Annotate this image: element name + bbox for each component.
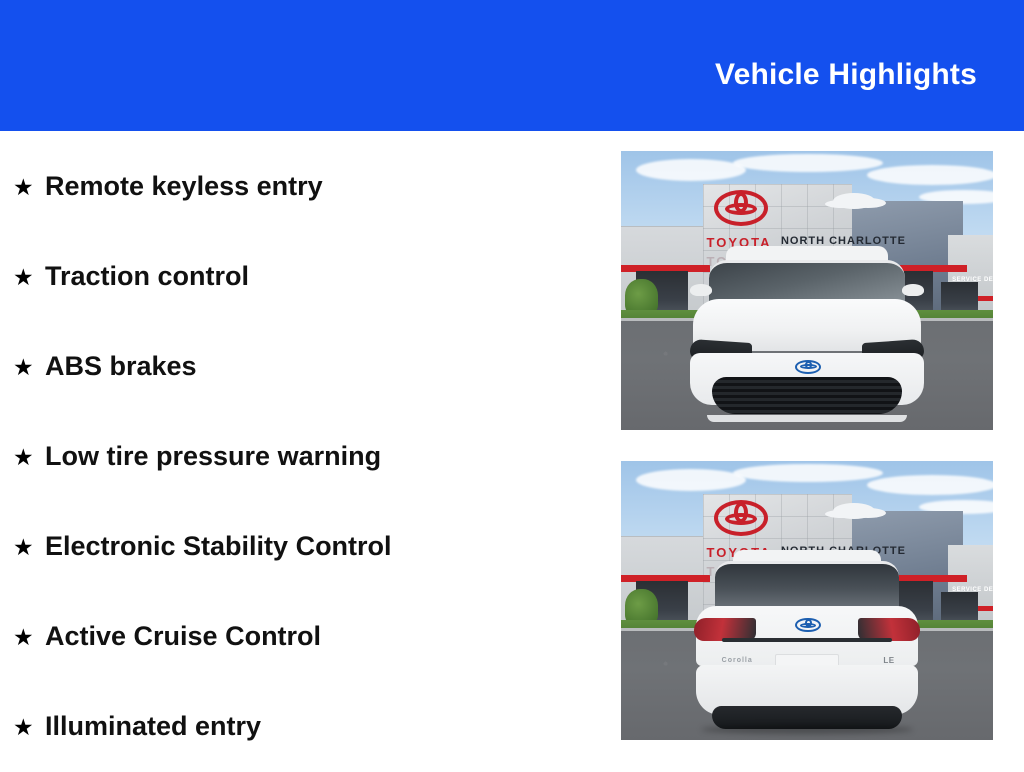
feature-label: Traction control [45, 262, 249, 292]
star-icon: ★ [13, 536, 45, 559]
showroom-bay [941, 592, 978, 623]
car-front-lip [707, 415, 907, 422]
cloud [733, 154, 883, 172]
vehicle-front-body [688, 246, 926, 419]
sign-cloud-icon [833, 193, 875, 209]
star-icon: ★ [13, 716, 45, 739]
trim-badge: LE [883, 656, 894, 665]
car-mirror-right [902, 284, 923, 296]
star-icon: ★ [13, 176, 45, 199]
toyota-emblem-icon [795, 618, 820, 632]
list-item: ★ Traction control [0, 232, 600, 322]
dealership-scene: TOYOTA TOYOTA NORTH CHARLOTTE SERVICE DE… [621, 461, 993, 740]
star-icon: ★ [13, 626, 45, 649]
feature-label: Remote keyless entry [45, 172, 323, 202]
feature-label: Low tire pressure warning [45, 442, 381, 472]
toyota-logo-icon [714, 500, 768, 536]
sign-cloud-icon [833, 503, 875, 519]
vehicle-photo-rear: TOYOTA TOYOTA NORTH CHARLOTTE SERVICE DE… [621, 461, 993, 740]
toyota-logo-icon [714, 190, 768, 226]
showroom-bay [941, 282, 978, 313]
header-band: Vehicle Highlights [0, 0, 1024, 131]
cloud [733, 464, 883, 482]
feature-label: Electronic Stability Control [45, 532, 392, 562]
car-grille [712, 377, 902, 413]
list-item: ★ Electronic Stability Control [0, 502, 600, 592]
list-item: ★ Illuminated entry [0, 682, 600, 772]
model-badge: Corolla [722, 657, 753, 664]
star-icon: ★ [13, 356, 45, 379]
car-trunk-seam [722, 638, 893, 642]
list-item: ★ Low tire pressure warning [0, 412, 600, 502]
service-dept-sign: SERVICE DEPT [952, 587, 993, 593]
cloud [867, 165, 993, 185]
feature-label: Active Cruise Control [45, 622, 321, 652]
star-icon: ★ [13, 266, 45, 289]
feature-label: ABS brakes [45, 352, 197, 382]
vehicle-highlights-list: ★ Remote keyless entry ★ Traction contro… [0, 142, 600, 772]
star-icon: ★ [13, 446, 45, 469]
list-item: ★ Active Cruise Control [0, 592, 600, 682]
page-title: Vehicle Highlights [715, 58, 977, 92]
vehicle-rear-body: Corolla LE [692, 550, 923, 729]
dealership-scene: TOYOTA TOYOTA NORTH CHARLOTTE SERVICE DE… [621, 151, 993, 430]
list-item: ★ Remote keyless entry [0, 142, 600, 232]
feature-label: Illuminated entry [45, 712, 261, 742]
toyota-emblem-icon [795, 360, 821, 374]
car-mirror-left [690, 284, 711, 296]
cloud [867, 475, 993, 495]
vehicle-photo-front: TOYOTA TOYOTA NORTH CHARLOTTE SERVICE DE… [621, 151, 993, 430]
service-dept-sign: SERVICE DEPT [952, 277, 993, 283]
list-item: ★ ABS brakes [0, 322, 600, 412]
